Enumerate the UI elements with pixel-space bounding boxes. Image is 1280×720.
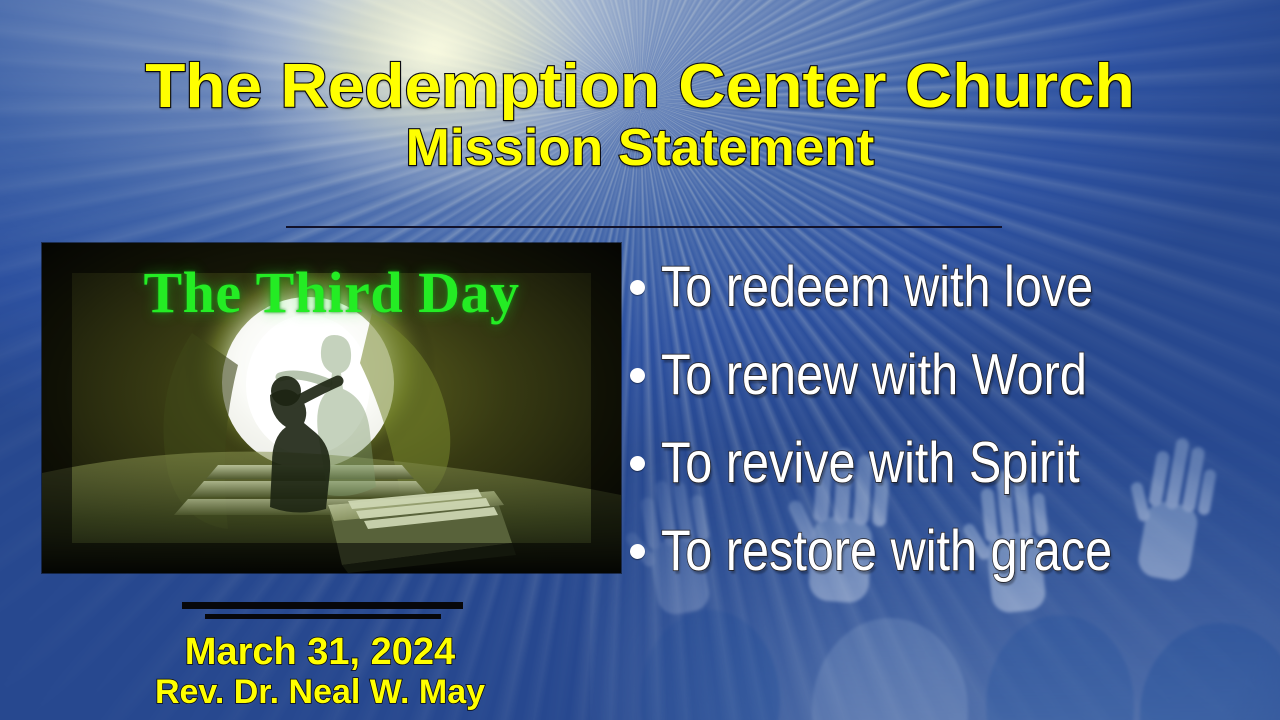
title-divider [286,226,1002,228]
bullet-dot-icon [630,368,645,383]
picture-caption: The Third Day [42,259,621,326]
presentation-slide: The Redemption Center Church Mission Sta… [0,0,1280,720]
bullet-label: To restore with grace [661,522,1112,579]
mission-bullet-list: To redeem with love To renew with Word T… [630,243,1270,595]
empty-tomb-image: The Third Day [42,243,621,573]
list-item: To redeem with love [630,243,1270,331]
list-item: To renew with Word [630,331,1270,419]
footer-divider-thick [182,602,463,609]
bullet-label: To revive with Spirit [661,434,1080,491]
sermon-date: March 31, 2024 [0,632,640,672]
speaker-name: Rev. Dr. Neal W. May [0,674,640,710]
list-item: To revive with Spirit [630,419,1270,507]
title-line-1: The Redemption Center Church [0,56,1280,118]
bullet-label: To renew with Word [661,346,1087,403]
footer-block: March 31, 2024 Rev. Dr. Neal W. May [0,632,640,710]
footer-divider-thin [205,614,441,619]
list-item: To restore with grace [630,507,1270,595]
bullet-dot-icon [630,544,645,559]
title-line-2: Mission Statement [0,122,1280,174]
bullet-dot-icon [630,456,645,471]
bullet-dot-icon [630,280,645,295]
bullet-label: To redeem with love [661,258,1093,315]
slide-title: The Redemption Center Church Mission Sta… [0,56,1280,174]
